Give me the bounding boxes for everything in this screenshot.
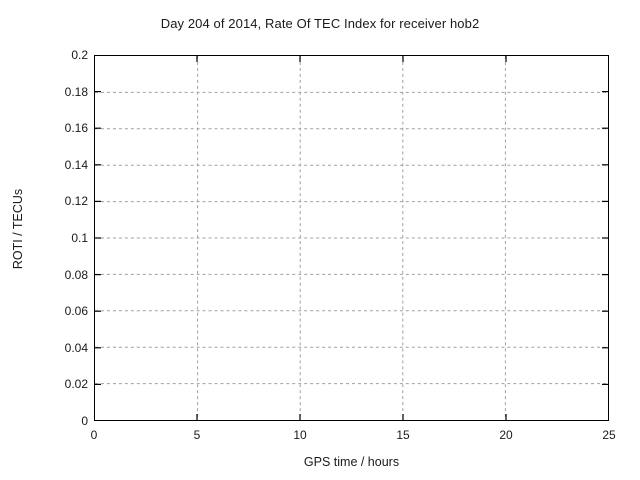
y-tick-label: 0.12 bbox=[65, 194, 88, 208]
y-tick-label: 0.02 bbox=[65, 377, 88, 391]
x-tick-label: 15 bbox=[396, 428, 409, 442]
y-tick-label: 0.16 bbox=[65, 121, 88, 135]
y-tick-label: 0 bbox=[81, 414, 88, 428]
y-tick-label: 0.14 bbox=[65, 158, 88, 172]
y-tick-label: 0.08 bbox=[65, 268, 88, 282]
roti-scatter-plot: Day 204 of 2014, Rate Of TEC Index for r… bbox=[0, 0, 640, 480]
y-tick-label: 0.06 bbox=[65, 304, 88, 318]
x-tick-label: 0 bbox=[91, 428, 98, 442]
y-axis-title: ROTI / TECUs bbox=[11, 149, 25, 309]
x-tick-label: 25 bbox=[602, 428, 615, 442]
x-tick-label: 20 bbox=[499, 428, 512, 442]
x-axis-title: GPS time / hours bbox=[94, 455, 609, 469]
x-tick-label: 10 bbox=[293, 428, 306, 442]
y-tick-label: 0.04 bbox=[65, 341, 88, 355]
data-series-roti bbox=[95, 56, 608, 420]
y-tick-label: 0.2 bbox=[71, 48, 88, 62]
plot-area bbox=[94, 55, 609, 421]
y-tick-label: 0.18 bbox=[65, 85, 88, 99]
y-tick-label: 0.1 bbox=[71, 231, 88, 245]
x-tick-label: 5 bbox=[194, 428, 201, 442]
page-title: Day 204 of 2014, Rate Of TEC Index for r… bbox=[0, 16, 640, 31]
